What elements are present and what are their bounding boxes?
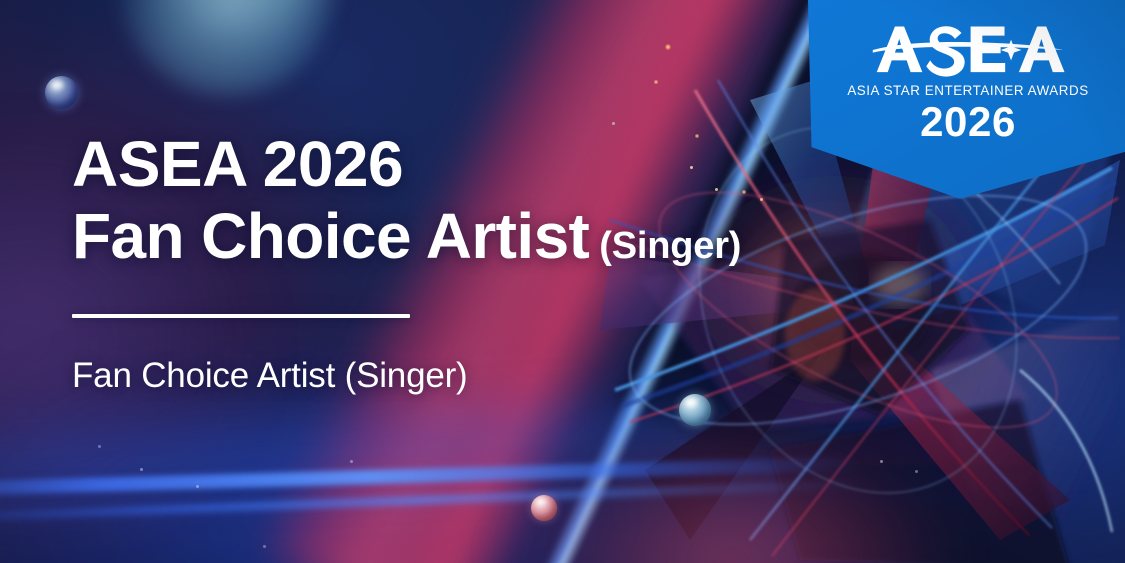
asea-award-banner: ASIA STAR ENTERTAINER AWARDS 2026 ASEA 2…: [0, 0, 1125, 563]
sparkle-dot: [196, 485, 199, 488]
page-title-line-2: Fan Choice Artist(Singer): [72, 204, 972, 270]
lower-light-band-1: [0, 456, 860, 497]
title-divider: [72, 314, 410, 318]
teal-glow-inner: [150, 0, 340, 40]
sparkle-dot: [915, 470, 918, 473]
banner-text-block: ASEA 2026 Fan Choice Artist(Singer) Fan …: [72, 132, 972, 396]
decorative-sphere-blue-center: [679, 394, 711, 426]
lower-light-band-2: [0, 480, 860, 524]
decorative-sphere-blue-top-left: [45, 76, 78, 109]
sparkle-dot: [612, 122, 615, 125]
page-title-qualifier: (Singer): [599, 225, 741, 267]
sparkle-dot: [665, 44, 671, 50]
sparkle-dot: [880, 460, 883, 463]
page-title-line-1: ASEA 2026: [72, 132, 972, 198]
badge-content: ASIA STAR ENTERTAINER AWARDS 2026: [806, 0, 1125, 144]
sparkle-dot: [654, 80, 658, 84]
teal-glow-outer: [120, 0, 335, 97]
sparkle-dot: [140, 468, 143, 471]
sparkle-dot: [350, 460, 353, 463]
award-category-subtitle: Fan Choice Artist (Singer): [72, 356, 972, 396]
asea-logo-icon: [870, 20, 1066, 80]
badge-tagline: ASIA STAR ENTERTAINER AWARDS: [806, 83, 1125, 98]
page-title-main: Fan Choice Artist: [72, 200, 589, 272]
sparkle-dot: [263, 545, 266, 548]
pink-bloom-glow: [520, 430, 940, 563]
sparkle-dot: [98, 445, 101, 448]
decorative-sphere-pink: [531, 495, 557, 521]
